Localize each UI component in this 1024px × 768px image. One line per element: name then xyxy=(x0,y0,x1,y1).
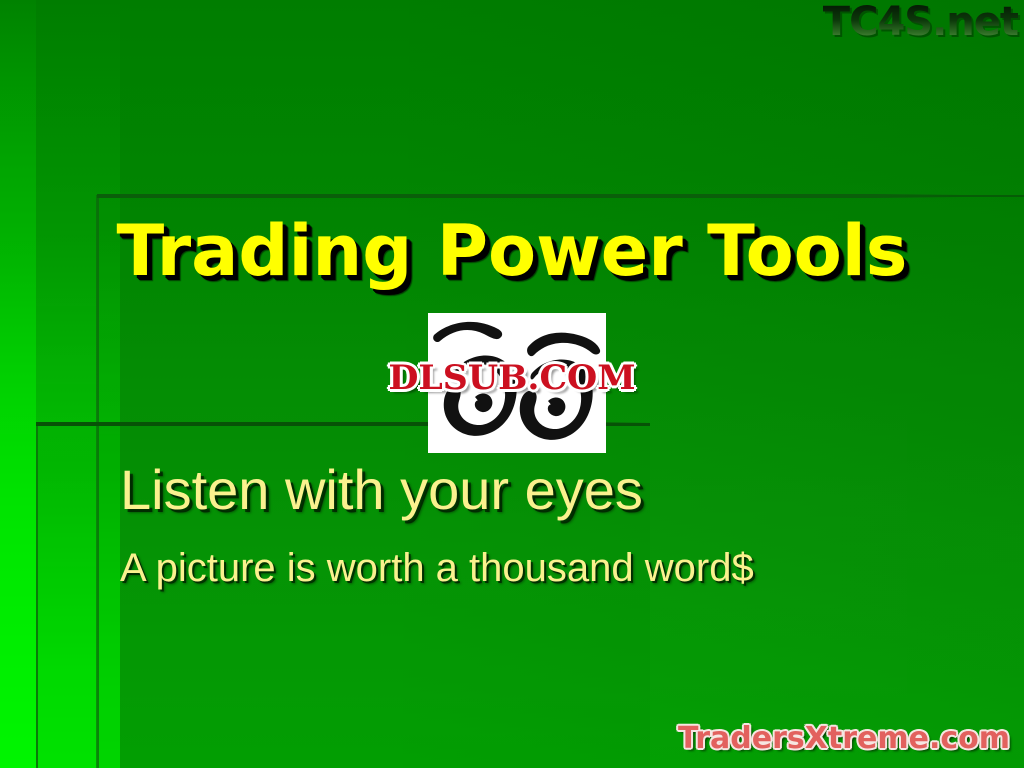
slide-title: Trading Power Tools xyxy=(0,216,1024,286)
background-left-edge-band xyxy=(0,0,36,768)
tc4s-watermark: TC4S.net xyxy=(823,2,1018,42)
slide-subtitle-main: Listen with your eyes xyxy=(120,462,643,518)
slide-subtitle-secondary: A picture is worth a thousand word$ xyxy=(120,548,754,588)
decorative-horizontal-rule-top xyxy=(97,194,963,198)
presentation-slide: TC4S.net TC4S.net Trading Power Tools DL… xyxy=(0,0,1024,768)
dlsub-watermark: DLSUB.COM xyxy=(367,361,657,395)
tradersxtreme-watermark: TradersXtreme.com xyxy=(678,724,1010,754)
